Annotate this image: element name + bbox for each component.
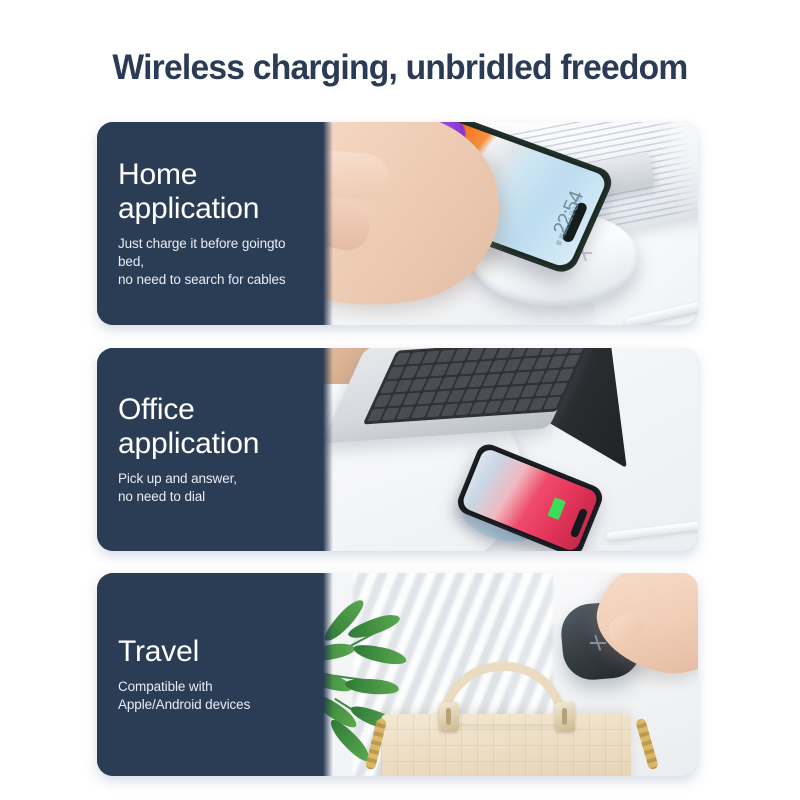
card-text-panel: Travel Compatible with Apple/Android dev… bbox=[97, 573, 323, 776]
card-subtitle: Pick up and answer, no need to dial bbox=[118, 470, 305, 506]
card-photo-travel bbox=[323, 573, 698, 776]
card-inner: Home application Just charge it before g… bbox=[97, 122, 698, 325]
card-heading: Office application bbox=[118, 393, 305, 461]
card-inner: Office application Pick up and answer, n… bbox=[97, 348, 698, 551]
card-photo-office bbox=[323, 348, 698, 551]
feature-card-home[interactable]: Home application Just charge it before g… bbox=[97, 122, 698, 325]
card-text-panel: Office application Pick up and answer, n… bbox=[97, 348, 323, 551]
index-finger bbox=[323, 145, 390, 201]
card-heading: Home application bbox=[118, 158, 305, 226]
handbag-clasp-right bbox=[555, 702, 575, 732]
feature-card-office[interactable]: Office application Pick up and answer, n… bbox=[97, 348, 698, 551]
card-photo-home: 22:54 星期四 11月28日 bbox=[323, 122, 698, 325]
card-text-panel: Home application Just charge it before g… bbox=[97, 122, 323, 325]
product-infographic: Wireless charging, unbridled freedom Hom… bbox=[0, 0, 800, 800]
page-title: Wireless charging, unbridled freedom bbox=[16, 48, 784, 88]
card-subtitle: Compatible with Apple/Android devices bbox=[118, 678, 305, 714]
card-heading: Travel bbox=[118, 635, 305, 669]
feature-card-travel[interactable]: Travel Compatible with Apple/Android dev… bbox=[97, 573, 698, 776]
handbag-clasp-left bbox=[439, 702, 459, 732]
card-subtitle: Just charge it before goingto bed, no ne… bbox=[118, 235, 305, 289]
card-inner: Travel Compatible with Apple/Android dev… bbox=[97, 573, 698, 776]
